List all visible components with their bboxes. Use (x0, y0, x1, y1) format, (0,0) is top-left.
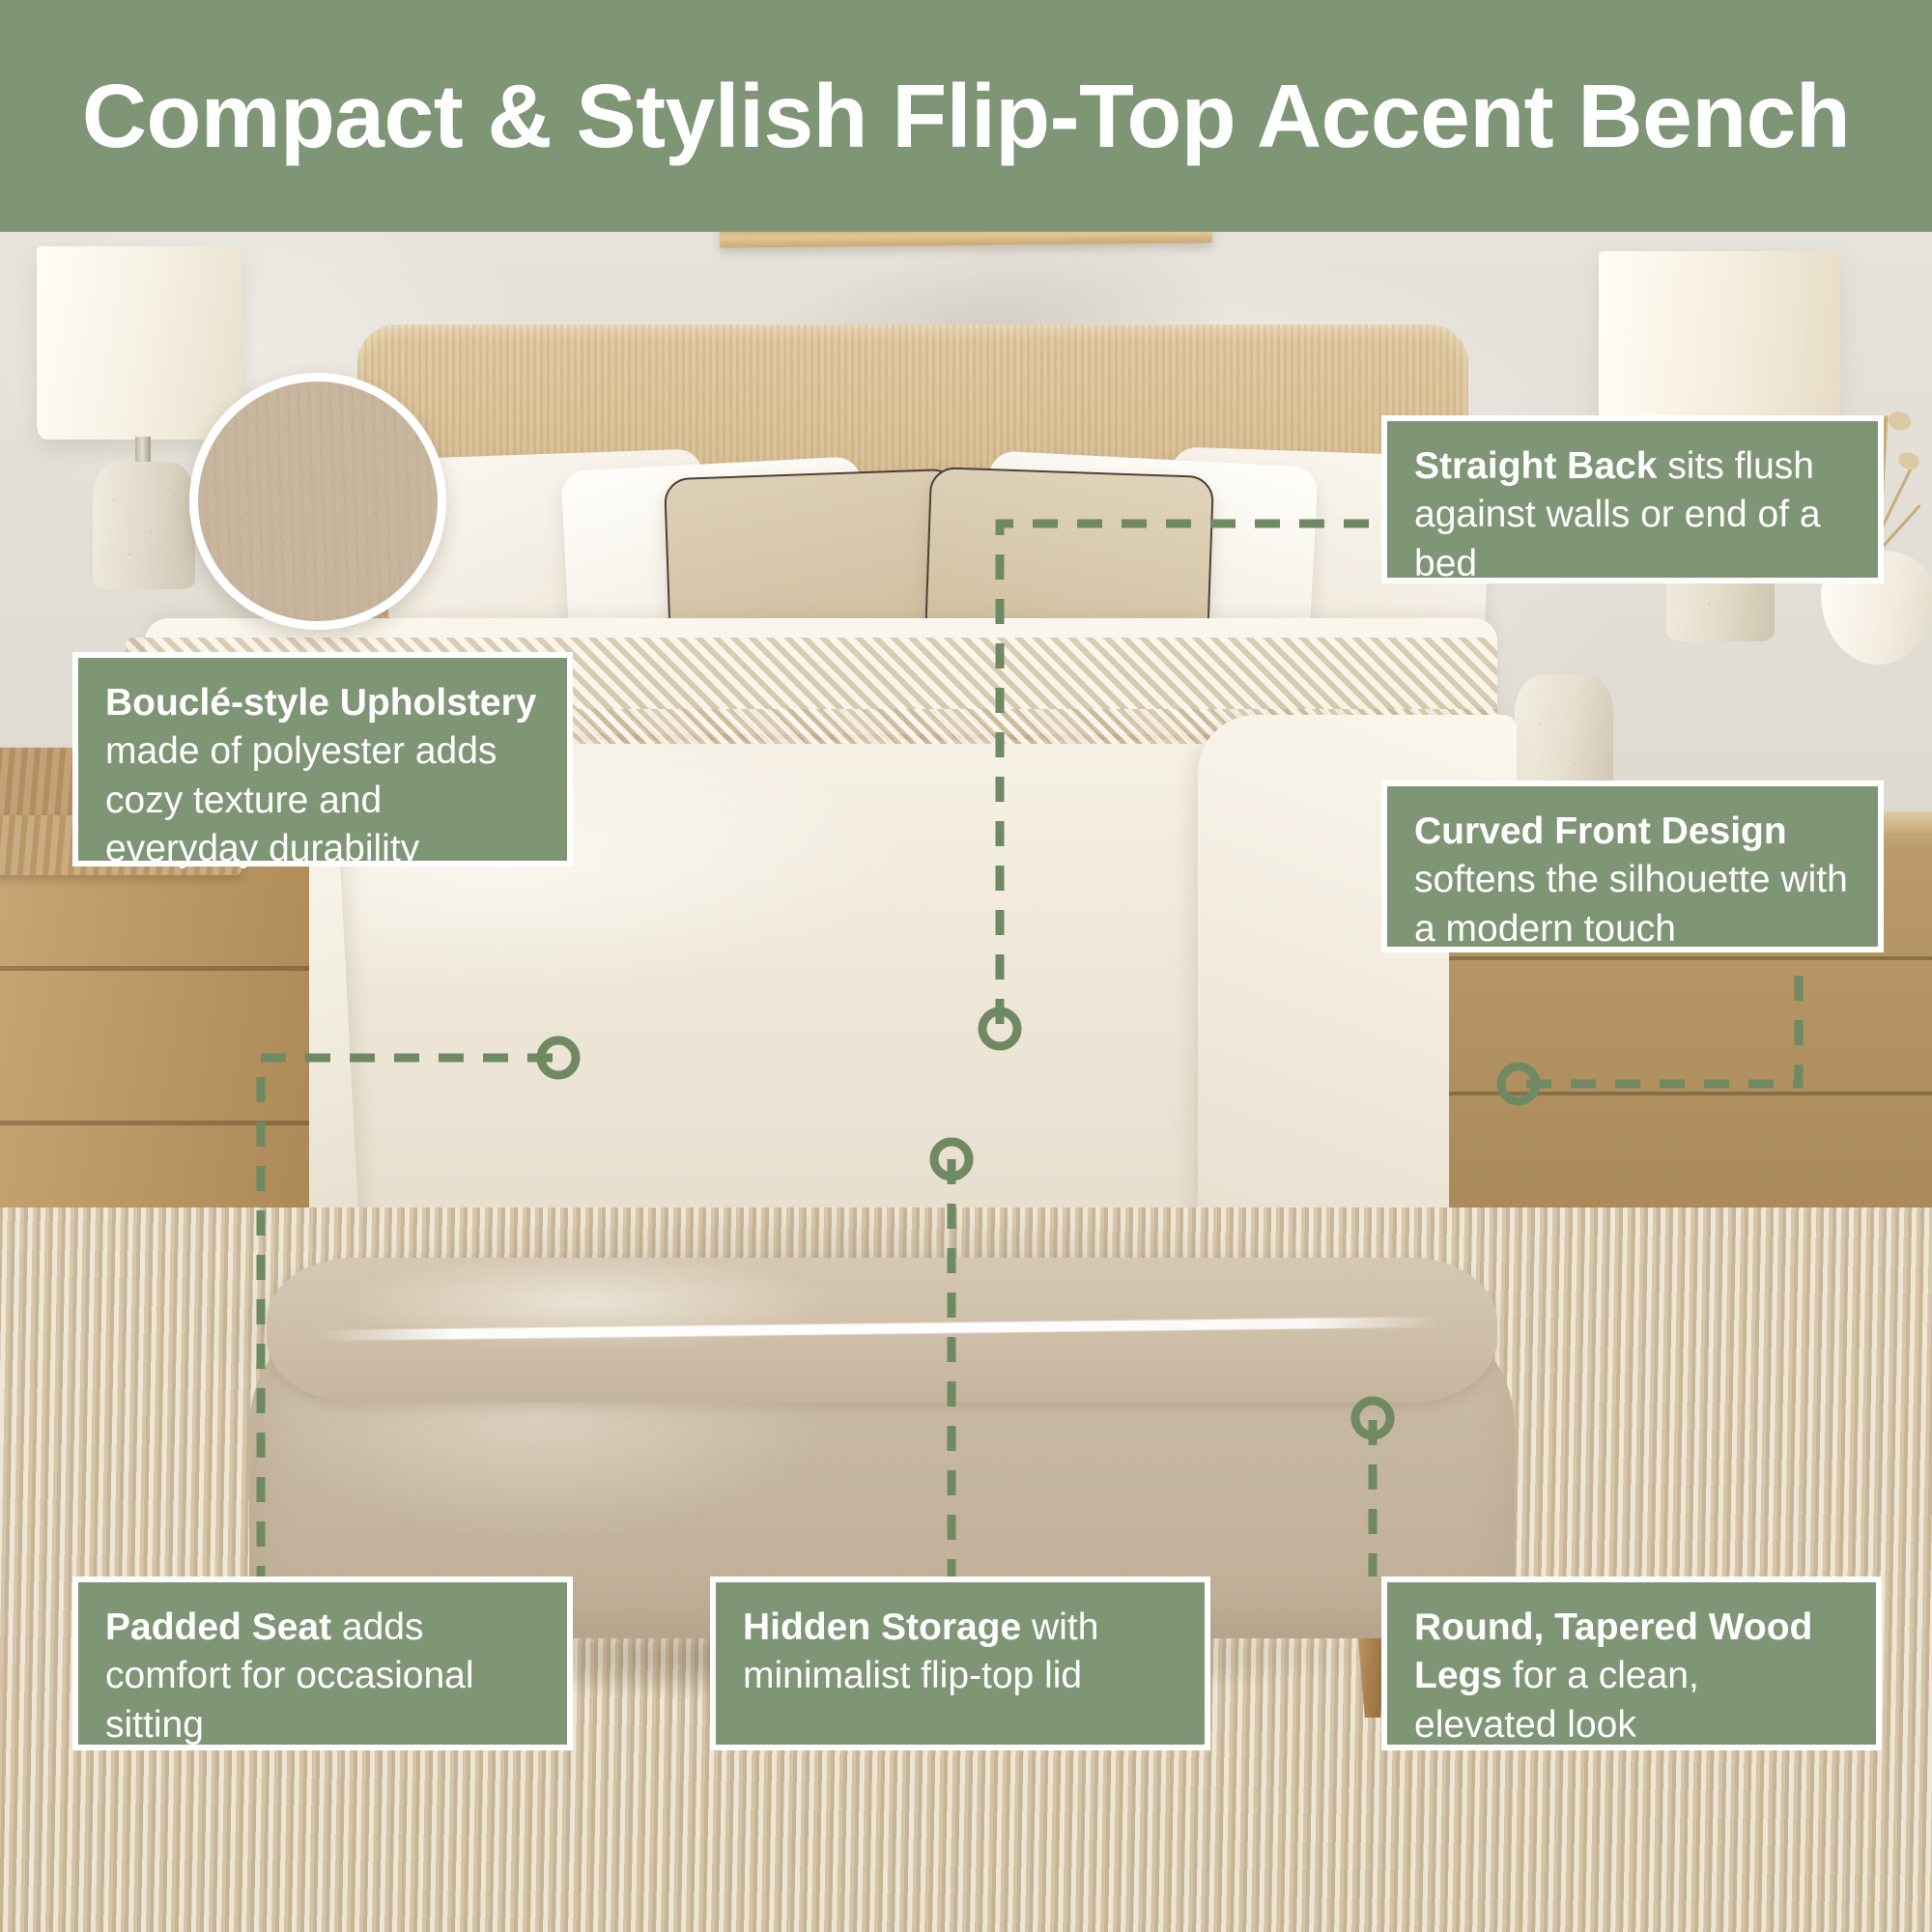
callout-straight-back[interactable]: Straight Back sits flush against walls o… (1381, 415, 1884, 583)
callout-lead: Bouclé-style Upholstery (105, 682, 536, 724)
callout-hidden-storage[interactable]: Hidden Storage with minimalist flip-top … (710, 1577, 1210, 1750)
callout-rest: made of polyester adds cozy texture and … (105, 730, 497, 869)
callout-wood-legs[interactable]: Round, Tapered Wood Legs for a clean, el… (1381, 1577, 1882, 1750)
callout-lead: Curved Front Design (1414, 810, 1787, 852)
boucle-fabric-swatch-circle (189, 373, 446, 630)
callout-lead: Straight Back (1414, 445, 1657, 487)
callout-boucle-upholstery[interactable]: Bouclé-style Upholstery made of polyeste… (72, 652, 573, 867)
header-bar: Compact & Stylish Flip-Top Accent Bench (0, 0, 1932, 232)
callout-lead: Padded Seat (105, 1606, 331, 1648)
infographic-canvas: Compact & Stylish Flip-Top Accent Bench (0, 0, 1932, 1932)
callout-curved-front[interactable]: Curved Front Design softens the silhouet… (1381, 781, 1884, 952)
callout-lead: Hidden Storage (743, 1606, 1021, 1648)
callout-padded-seat[interactable]: Padded Seat adds comfort for occasional … (72, 1577, 573, 1750)
callout-rest: softens the silhouette with a modern tou… (1414, 859, 1848, 949)
page-title: Compact & Stylish Flip-Top Accent Bench (82, 71, 1850, 161)
